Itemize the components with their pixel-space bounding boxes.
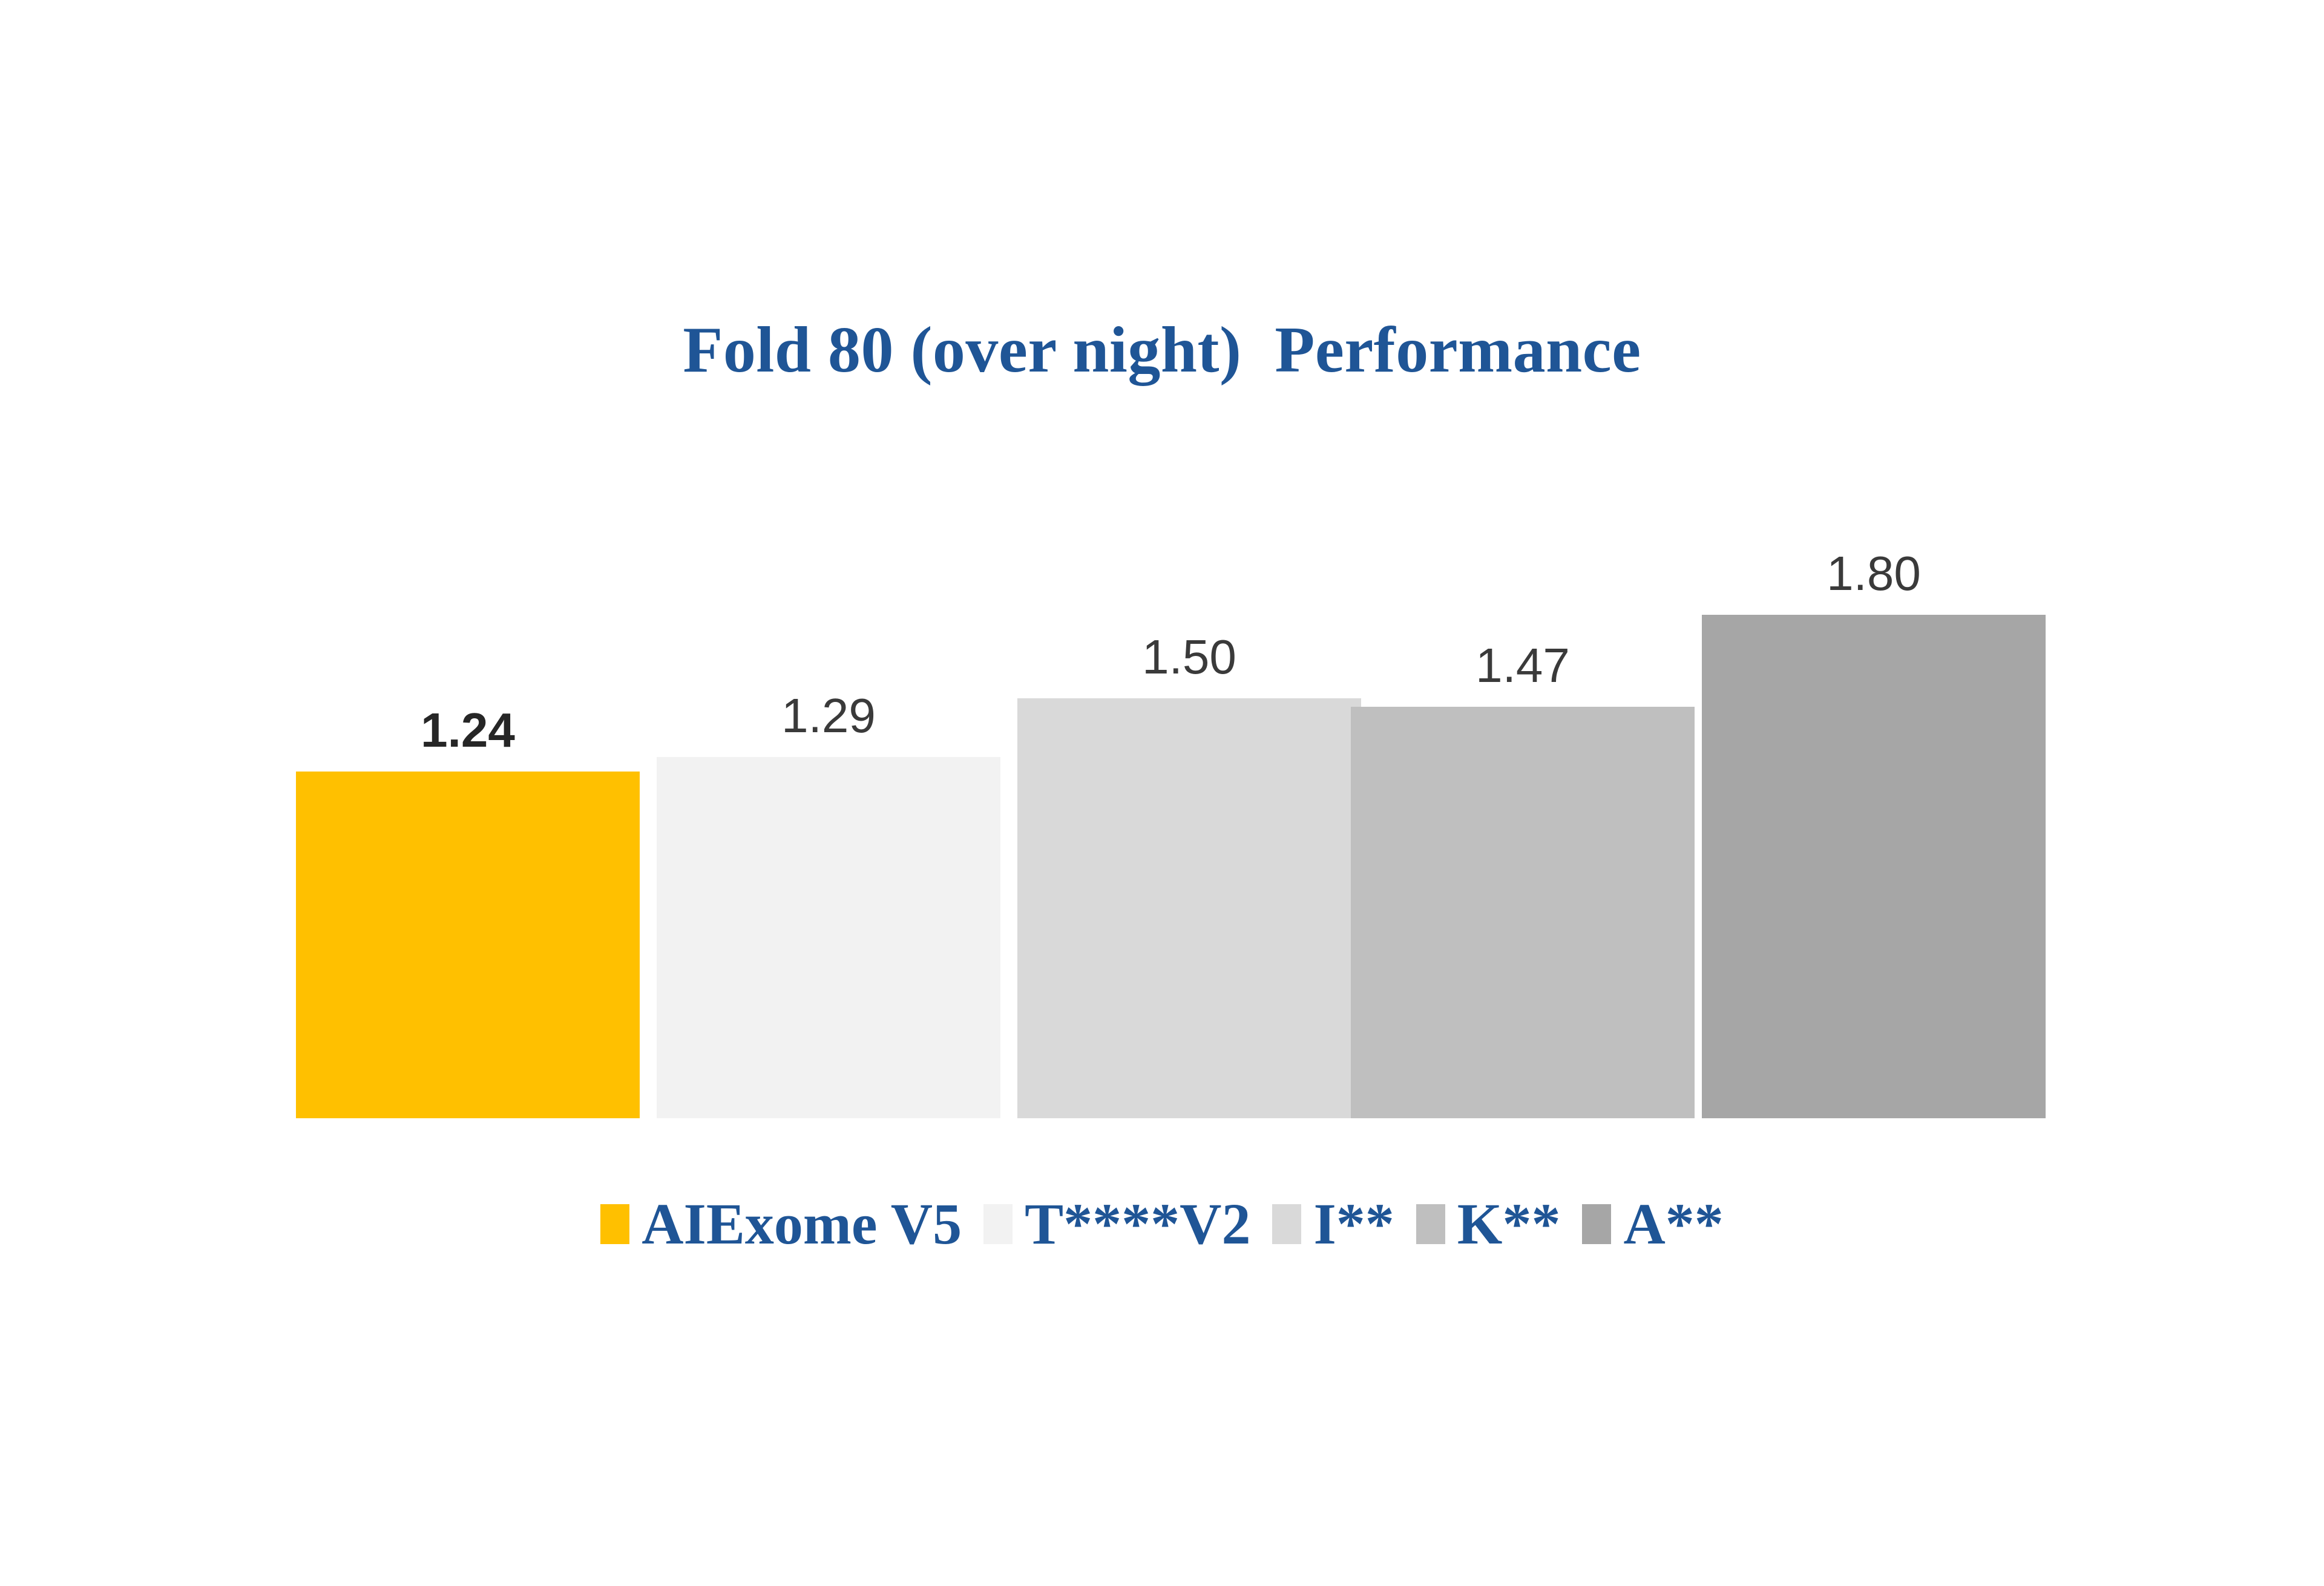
legend-item-aiexome-v5[interactable]: AIExome V5	[600, 1195, 962, 1253]
legend-label-4: A**	[1623, 1195, 1723, 1253]
bar-i[interactable]	[1017, 698, 1361, 1118]
bar-value-label-2: 1.50	[1017, 633, 1361, 685]
bar-t-v2[interactable]	[657, 757, 1000, 1118]
legend-item-k[interactable]: K**	[1416, 1195, 1561, 1253]
legend-label-3: K**	[1457, 1195, 1561, 1253]
bar-value-label-3: 1.47	[1351, 641, 1695, 693]
legend-item-t-v2[interactable]: T****V2	[983, 1195, 1250, 1253]
legend-label-0: AIExome V5	[642, 1195, 962, 1253]
legend-swatch-icon-3	[1416, 1204, 1445, 1244]
legend-item-a[interactable]: A**	[1582, 1195, 1723, 1253]
bar-slot-2: 1.50	[1017, 545, 1361, 1118]
bar-value-label-1: 1.29	[657, 692, 1000, 744]
bar-a[interactable]	[1702, 615, 2046, 1118]
bar-aiexome-v5[interactable]	[296, 772, 640, 1118]
chart-legend: AIExome V5 T****V2 I** K** A**	[0, 1195, 2324, 1253]
chart-title: Fold 80 (over night) Performance	[0, 315, 2324, 387]
bar-slot-0: 1.24	[296, 545, 640, 1118]
legend-swatch-icon-2	[1272, 1204, 1301, 1244]
bar-k[interactable]	[1351, 707, 1695, 1118]
bar-slot-4: 1.80	[1702, 545, 2046, 1118]
legend-item-i[interactable]: I**	[1272, 1195, 1394, 1253]
legend-swatch-icon-0	[600, 1204, 629, 1244]
bar-value-label-0: 1.24	[296, 706, 640, 758]
legend-swatch-icon-4	[1582, 1204, 1611, 1244]
legend-swatch-icon-1	[983, 1204, 1013, 1244]
legend-label-1: T****V2	[1025, 1195, 1250, 1253]
legend-label-2: I**	[1313, 1195, 1394, 1253]
plot-area: 1.24 1.29 1.50 1.47 1.80	[296, 545, 2046, 1118]
bar-slot-3: 1.47	[1351, 545, 1695, 1118]
bar-value-label-4: 1.80	[1702, 549, 2046, 601]
chart-slide: Fold 80 (over night) Performance 1.24 1.…	[0, 0, 2324, 1586]
bar-slot-1: 1.29	[657, 545, 1000, 1118]
